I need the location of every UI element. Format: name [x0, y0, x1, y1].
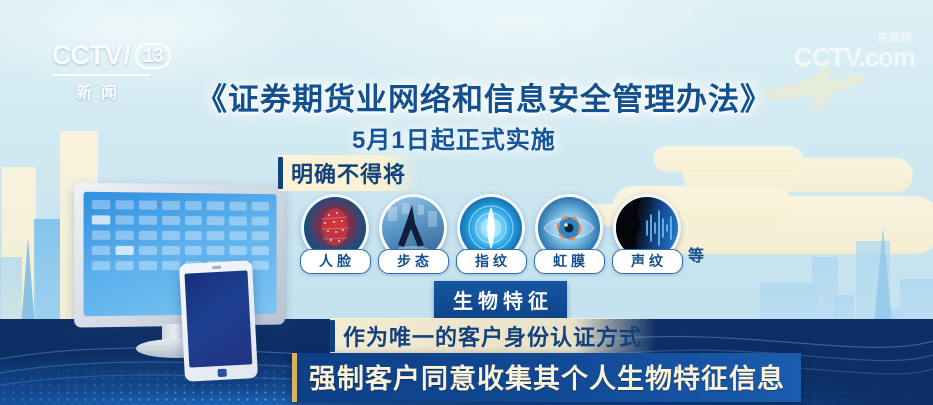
qualifier-statement: 作为唯一的客户身份认证方式 [330, 318, 656, 354]
biometric-item-gait[interactable]: 步态 [378, 194, 448, 274]
tablet-screen [184, 270, 252, 367]
page-subtitle: 5月1日起正式实施 [352, 120, 556, 155]
biometric-label: 人脸 [300, 249, 371, 274]
channel-number: 13 [135, 43, 171, 69]
cctv-wordmark: CCTV [52, 40, 122, 71]
logo-underline [52, 74, 150, 76]
biometric-label: 指纹 [456, 249, 527, 274]
accent-bar [278, 157, 283, 189]
cctv13-channel-logo: CCTV / 13 新闻 [52, 40, 171, 103]
tablet-icon [179, 260, 258, 382]
lead-statement: 明确不得将 [278, 155, 420, 191]
channel-subtitle: 新闻 [52, 79, 150, 103]
lead-statement-text: 明确不得将 [291, 157, 406, 189]
qualifier-statement-text: 作为唯一的客户身份认证方式 [343, 320, 642, 352]
biometric-label: 声纹 [612, 249, 683, 274]
biometric-item-iris[interactable]: 虹膜 [534, 194, 604, 274]
biometric-item-voiceprint[interactable]: 声纹 [612, 194, 682, 274]
biometric-item-face[interactable]: 人脸 [300, 194, 370, 274]
cctv-com-watermark: 央视网 CCTV.com [794, 44, 915, 70]
biometric-label: 虹膜 [534, 249, 605, 274]
broadcast-news-graphic: CCTV / 13 新闻 央视网 CCTV.com [0, 0, 933, 405]
tablet-camera-icon [212, 266, 221, 269]
bottom-statement-text: 强制客户同意收集其个人生物特征信息 [297, 353, 801, 402]
watermark-cn-text: 央视网 [877, 33, 913, 44]
etc-label: 等 [688, 242, 704, 266]
device-illustration-group [58, 176, 308, 391]
bottom-statement-banner: 强制客户同意收集其个人生物特征信息 [292, 353, 801, 402]
accent-bar [330, 320, 335, 352]
page-title: 《证券期货业网络和信息安全管理办法》 [196, 74, 772, 119]
biometric-item-fingerprint[interactable]: 指纹 [456, 194, 526, 274]
biometric-label: 步态 [378, 249, 449, 274]
tablet-home-button-icon [217, 369, 226, 377]
watermark-text: CCTV.com [794, 42, 915, 72]
biometric-list: 人脸 步态 [300, 194, 704, 274]
logo-slash: / [124, 40, 130, 71]
biometric-features-banner: 生物特征 [434, 281, 567, 319]
